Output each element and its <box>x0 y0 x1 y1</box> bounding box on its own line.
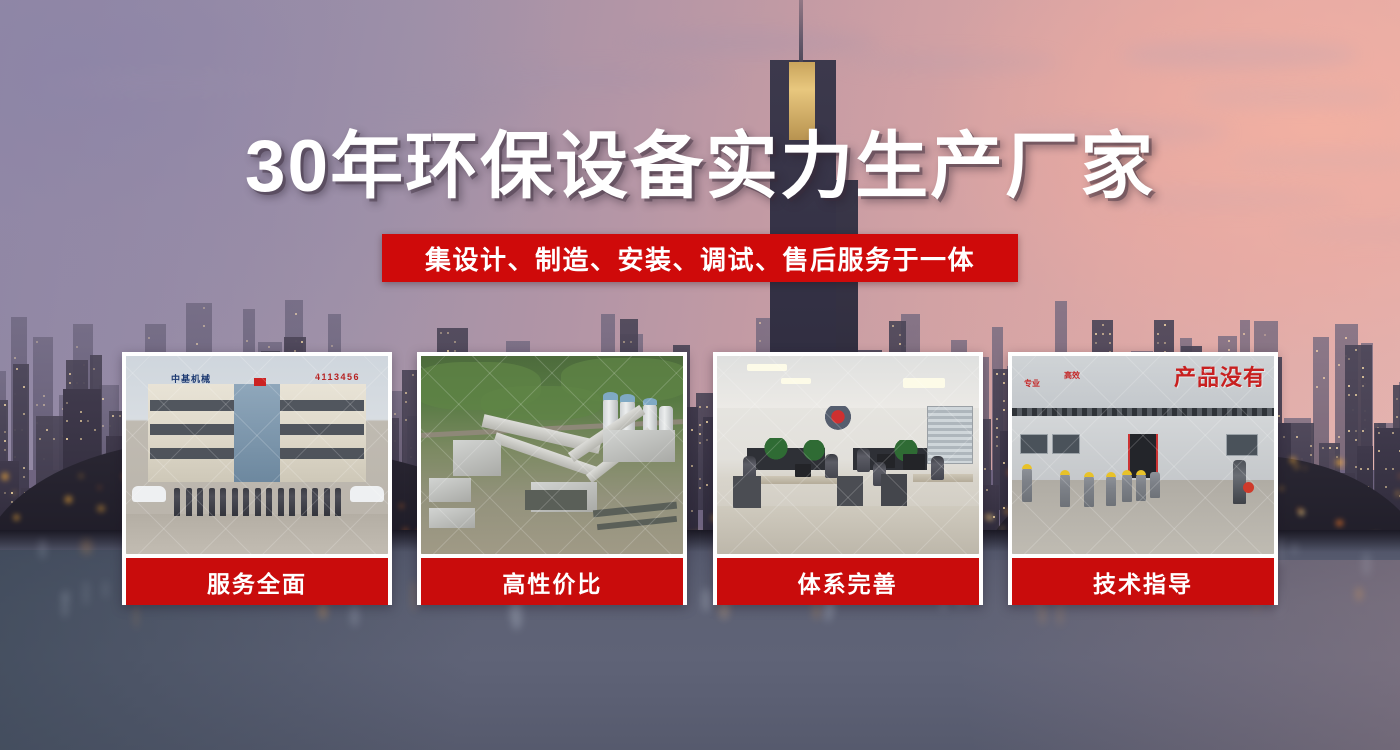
photo-worker <box>1022 468 1032 502</box>
photo-employee <box>825 454 838 478</box>
photo-hardhat-icon <box>1106 472 1116 477</box>
photo-plant-block <box>429 478 471 502</box>
card-photo-office-interior <box>717 356 979 554</box>
photo-hardhat-icon <box>1084 472 1094 477</box>
subtitle-text: 集设计、制造、安装、调试、售后服务于一体 <box>425 240 975 277</box>
city-light <box>2 473 8 479</box>
building-window <box>1392 432 1394 434</box>
photo-wall-slogan-2: 高效 <box>1064 370 1080 381</box>
headline-block: 30年环保设备实力生产厂家 <box>0 128 1400 207</box>
photo-worker <box>1122 474 1132 502</box>
photo-wall-slogan-main: 产品没有 <box>1174 360 1266 392</box>
water-reflection <box>350 604 359 628</box>
photo-employee <box>857 448 870 472</box>
feature-card[interactable]: 中基机械 4113456 服务全面 <box>122 352 392 605</box>
photo-staff-member <box>266 488 272 516</box>
photo-employee <box>931 456 944 480</box>
building-window <box>80 411 82 413</box>
card-caption: 体系完善 <box>717 558 979 605</box>
photo-window <box>1020 434 1048 454</box>
photo-chair <box>733 476 761 508</box>
photo-staff-member <box>174 488 180 516</box>
photo-plant-block <box>453 440 501 476</box>
building-window <box>66 420 68 422</box>
photo-monitor <box>903 454 925 470</box>
photo-staff-member <box>289 488 295 516</box>
photo-wall-logo-icon <box>821 406 855 430</box>
photo-staff-member <box>197 488 203 516</box>
photo-staff-member <box>278 488 284 516</box>
photo-red-helmet-icon <box>1243 482 1254 493</box>
photo-car <box>350 486 384 502</box>
building-window <box>1360 468 1362 470</box>
photo-staff-member <box>243 488 249 516</box>
photo-worker <box>1060 474 1070 507</box>
photo-staff-member <box>312 488 318 516</box>
photo-staff-member <box>301 488 307 516</box>
photo-silo-cap <box>643 398 657 405</box>
photo-window-row <box>280 400 364 411</box>
promo-banner: 30年环保设备实力生产厂家 集设计、制造、安装、调试、售后服务于一体 中基机械 … <box>0 0 1400 750</box>
photo-worker <box>1106 476 1116 506</box>
photo-window-row <box>280 448 364 459</box>
headline-text: 30年环保设备实力生产厂家 <box>245 128 1155 207</box>
photo-company-sign: 中基机械 <box>171 372 211 385</box>
feature-card-row: 中基机械 4113456 服务全面 <box>122 352 1278 605</box>
building-window <box>94 429 96 431</box>
photo-floor <box>717 506 979 554</box>
water-reflection <box>1292 543 1298 554</box>
building-window <box>4 492 6 494</box>
photo-hardhat-icon <box>1136 470 1146 475</box>
photo-plant <box>759 438 793 460</box>
city-light <box>1290 457 1296 463</box>
photo-car <box>132 486 166 502</box>
photo-staff-member <box>255 488 261 516</box>
photo-field <box>481 386 601 420</box>
photo-staff-member <box>209 488 215 516</box>
city-light <box>14 515 19 520</box>
photo-flag-icon <box>254 378 266 386</box>
photo-silo-cap <box>603 392 618 400</box>
photo-ceiling-light <box>903 378 945 388</box>
building-window <box>80 438 82 440</box>
card-photo-office-building: 中基机械 4113456 <box>126 356 388 554</box>
building-window <box>1283 436 1285 438</box>
building-window <box>80 420 82 422</box>
photo-plant-block <box>603 430 675 462</box>
feature-card[interactable]: 产品没有 专业 高效 技术指导 <box>1008 352 1278 605</box>
photo-staff-member <box>186 488 192 516</box>
building-window <box>1378 432 1380 434</box>
photo-phone-number: 4113456 <box>315 372 360 382</box>
photo-track <box>593 502 677 518</box>
photo-instructor <box>1233 460 1246 504</box>
building-window <box>1367 468 1369 470</box>
photo-chair <box>837 476 863 506</box>
photo-window-row <box>280 424 364 435</box>
water-reflection <box>81 539 93 555</box>
feature-card[interactable]: 高性价比 <box>417 352 687 605</box>
building-window <box>87 420 89 422</box>
card-caption: 技术指导 <box>1012 558 1274 605</box>
city-light <box>1280 487 1283 490</box>
water-reflection <box>1356 587 1362 601</box>
photo-track <box>597 516 677 530</box>
city-light <box>1294 464 1299 469</box>
photo-window-row <box>150 448 234 459</box>
building-window <box>66 402 68 404</box>
photo-hardhat-icon <box>1022 464 1032 469</box>
photo-silo-cap <box>620 394 635 402</box>
city-light <box>1396 491 1400 495</box>
tower-spire-icon <box>799 0 803 66</box>
photo-plant-block <box>429 508 475 528</box>
building-window <box>1378 450 1380 452</box>
photo-hardhat-icon <box>1122 470 1132 475</box>
photo-ceiling-light <box>747 364 787 371</box>
photo-ceiling-light <box>781 378 811 384</box>
photo-window-row <box>150 400 234 411</box>
photo-window <box>1052 434 1080 454</box>
card-photo-workers-factory: 产品没有 专业 高效 <box>1012 356 1274 554</box>
city-light <box>1336 459 1343 466</box>
city-light <box>1299 510 1304 515</box>
photo-ground <box>126 514 388 554</box>
photo-window-row <box>150 424 234 435</box>
building-window <box>1385 468 1387 470</box>
photo-wall-slogan-1: 专业 <box>1024 378 1040 389</box>
building-window <box>1385 486 1387 488</box>
photo-chair <box>881 474 907 506</box>
photo-monitor <box>795 464 811 477</box>
water-reflection <box>1362 552 1370 575</box>
card-caption: 高性价比 <box>421 558 683 605</box>
subtitle-bar: 集设计、制造、安装、调试、售后服务于一体 <box>382 234 1018 282</box>
photo-staff-member <box>324 488 330 516</box>
photo-staff-member <box>220 488 226 516</box>
feature-card[interactable]: 体系完善 <box>713 352 983 605</box>
card-caption: 服务全面 <box>126 558 388 605</box>
photo-building-atrium <box>234 384 280 482</box>
card-photo-industrial-plant <box>421 356 683 554</box>
water-reflection <box>83 580 89 606</box>
photo-worker <box>1084 476 1094 507</box>
photo-shed <box>525 490 587 510</box>
photo-staff-member <box>232 488 238 516</box>
building-window <box>1392 468 1394 470</box>
city-light <box>65 496 72 503</box>
building-window <box>66 438 68 440</box>
photo-window <box>1226 434 1258 456</box>
photo-worker <box>1150 472 1160 498</box>
water-reflection <box>39 539 46 559</box>
photo-hardhat-icon <box>1060 470 1070 475</box>
photo-worker <box>1136 474 1146 501</box>
photo-staff-member <box>335 488 341 516</box>
